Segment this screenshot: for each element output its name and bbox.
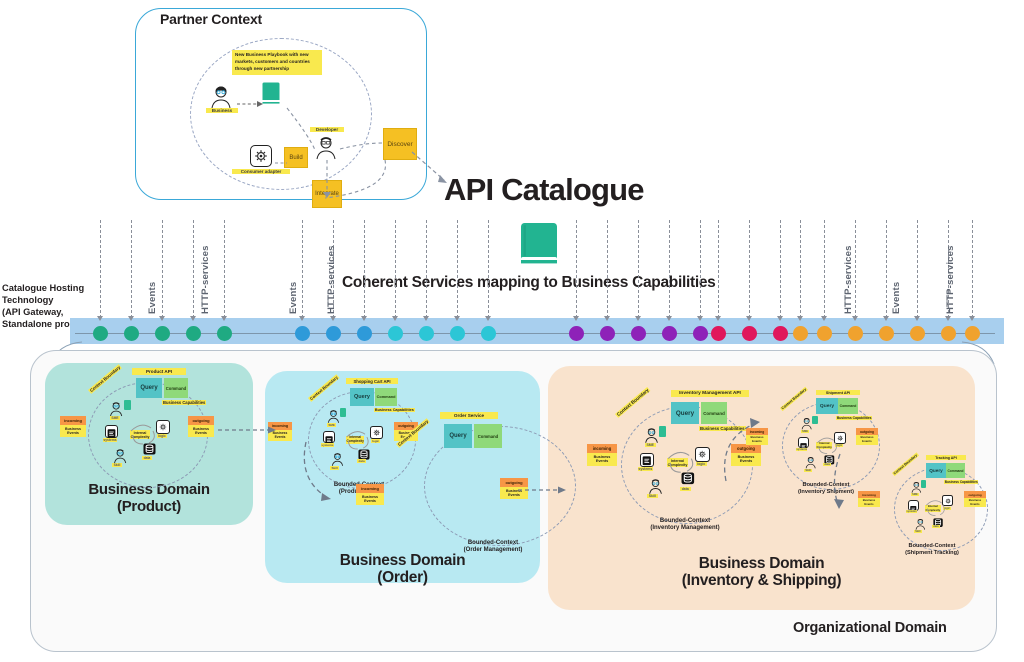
channel-arrow-icon — [159, 316, 165, 321]
command-box[interactable]: Command — [946, 463, 965, 478]
product-to-order-arrow — [218, 424, 280, 440]
channel-label: HTTP-services — [945, 228, 956, 314]
channel-arrow-icon — [485, 316, 491, 321]
internal-complexity-links — [343, 426, 371, 459]
channel-arrow-icon — [945, 316, 951, 321]
incoming-business-events: incoming Business Events — [356, 484, 384, 505]
channel-arrow-icon — [715, 316, 721, 321]
channel-dashed-line — [972, 220, 973, 318]
channel-arrow-icon — [635, 316, 641, 321]
service-dot[interactable] — [326, 326, 341, 341]
outgoing-business-events: outgoing Business Events — [856, 428, 878, 445]
data-label: data — [932, 525, 940, 528]
outgoing-label: outgoing — [856, 428, 878, 435]
channel-arrow-icon — [128, 316, 134, 321]
knowledge-book-icon — [659, 426, 666, 437]
channel-dashed-line — [131, 220, 132, 318]
channel-dashed-line — [426, 220, 427, 318]
channel-arrow-icon — [821, 316, 827, 321]
channel-dashed-line — [100, 220, 101, 318]
api-label: Tracking API — [926, 455, 966, 460]
partner-flow-connectors — [135, 8, 435, 208]
channel-arrow-icon — [883, 316, 889, 321]
channel-dashed-line — [302, 220, 303, 318]
channel-dashed-line — [749, 220, 750, 318]
channel-label: Events — [147, 228, 158, 314]
channel-arrow-icon — [969, 316, 975, 321]
channel-arrow-icon — [299, 316, 305, 321]
incoming-label: incoming — [858, 491, 880, 498]
service-dot[interactable] — [848, 326, 863, 341]
knowledge-book-icon — [124, 400, 131, 410]
service-dot[interactable] — [600, 326, 615, 341]
bounded-context-name: Bounded-Context (Shipment Tracking) — [882, 543, 982, 556]
incoming-business-events: incoming Business Events — [587, 444, 617, 466]
data-label: data — [142, 456, 152, 460]
service-dot[interactable] — [186, 326, 201, 341]
incoming-sub-label: Business Events — [587, 453, 617, 466]
channel-dashed-line — [700, 220, 701, 318]
incoming-sub-label: Business Events — [60, 425, 86, 437]
service-dot[interactable] — [295, 326, 310, 341]
systems-label: systems — [103, 438, 117, 442]
service-dot[interactable] — [879, 326, 894, 341]
query-box[interactable]: Query — [671, 402, 699, 424]
service-dot[interactable] — [742, 326, 757, 341]
sme-label: SME — [911, 493, 919, 496]
service-dot[interactable] — [693, 326, 708, 341]
bounded-context-name-line-2: (Inventory Management) — [625, 525, 745, 532]
api-label: Product API — [132, 368, 186, 375]
service-dot[interactable] — [793, 326, 808, 341]
channel-label: Events — [891, 228, 902, 314]
channel-arrow-icon — [797, 316, 803, 321]
outgoing-sub-label: Business Events — [856, 435, 878, 445]
incoming-label: incoming — [356, 484, 384, 493]
channel-label: Events — [288, 228, 299, 314]
service-dot[interactable] — [941, 326, 956, 341]
service-dot[interactable] — [357, 326, 372, 341]
channel-arrow-icon — [330, 316, 336, 321]
systems-label: systems — [906, 510, 917, 513]
business-domain-inventory-title: Business Domain (Inventory & Shipping) — [548, 555, 975, 590]
command-box[interactable]: Command — [838, 398, 858, 414]
bounded-context-name: Bounded-Context (Inventory Management) — [625, 518, 745, 532]
knowledge-book-icon — [812, 416, 818, 424]
query-box[interactable]: Query — [136, 378, 162, 398]
channel-arrow-icon — [190, 316, 196, 321]
logic-gear-icon — [156, 420, 170, 434]
channel-label: HTTP-services — [843, 228, 854, 314]
service-dot[interactable] — [388, 326, 403, 341]
channel-dashed-line — [669, 220, 670, 318]
channel-arrow-icon — [573, 316, 579, 321]
skill-label: Skill — [804, 469, 812, 472]
channel-label: HTTP-services — [326, 228, 337, 314]
systems-icon — [908, 500, 919, 511]
query-box[interactable]: Query — [444, 424, 472, 448]
data-label: data — [680, 487, 691, 491]
query-box[interactable]: Query — [350, 388, 374, 406]
logic-gear-icon — [370, 426, 383, 439]
channel-arrow-icon — [746, 316, 752, 321]
logic-gear-icon — [695, 447, 710, 462]
incoming-label: incoming — [587, 444, 617, 453]
api-label: Order Service — [440, 412, 498, 419]
domain-title-line-2: (Product) — [45, 499, 253, 516]
business-capabilities-label: Business Capabilities — [162, 400, 206, 405]
channel-dashed-line — [638, 220, 639, 318]
logic-label: logic — [371, 439, 380, 443]
sme-label: SME — [327, 423, 336, 427]
business-domain-order-title: Business Domain (Order) — [265, 552, 540, 587]
channel-arrow-icon — [361, 316, 367, 321]
business-capabilities-label: Business Capabilities — [944, 480, 978, 484]
service-dot[interactable] — [450, 326, 465, 341]
outgoing-label: outgoing — [964, 491, 986, 498]
bounded-context-name: Bounded-Context (Order Management) — [434, 540, 552, 554]
business-capabilities-label: Business Capabilities — [836, 416, 872, 420]
channel-dashed-line — [576, 220, 577, 318]
channel-arrow-icon — [914, 316, 920, 321]
channel-arrow-icon — [777, 316, 783, 321]
systems-label: systems — [638, 467, 653, 471]
channel-arrow-icon — [97, 316, 103, 321]
channel-dashed-line — [824, 220, 825, 318]
outgoing-sub-label: Business Events — [964, 498, 986, 507]
domain-title-line-1: Business Domain — [548, 555, 975, 572]
service-dot[interactable] — [481, 326, 496, 341]
sme-label: SME — [110, 416, 120, 420]
channel-dashed-line — [855, 220, 856, 318]
logic-label: logic — [157, 434, 167, 438]
service-dot[interactable] — [965, 326, 980, 341]
internal-complexity-links — [923, 496, 946, 524]
outgoing-business-events: outgoing Business Events — [188, 416, 214, 437]
channel-arrow-icon — [454, 316, 460, 321]
api-label: Inventory Management API — [671, 390, 749, 397]
incoming-business-events: incoming Business Events — [60, 416, 86, 437]
channel-arrow-icon — [392, 316, 398, 321]
outgoing-label: outgoing — [188, 416, 214, 425]
service-dot[interactable] — [569, 326, 584, 341]
channel-dashed-line — [162, 220, 163, 318]
incoming-sub-label: Business Events — [356, 493, 384, 505]
order-to-inventory-arrow — [518, 484, 570, 500]
outgoing-business-events: outgoing Business Events — [964, 491, 986, 507]
systems-icon — [105, 425, 118, 438]
service-dot[interactable] — [662, 326, 677, 341]
service-dot[interactable] — [711, 326, 726, 341]
channel-dashed-line — [193, 220, 194, 318]
incoming-business-events: incoming Business Events — [858, 491, 880, 507]
service-dot[interactable] — [93, 326, 108, 341]
service-dot[interactable] — [217, 326, 232, 341]
domain-title-line-2: (Inventory & Shipping) — [548, 572, 975, 589]
service-dot[interactable] — [124, 326, 139, 341]
systems-icon — [640, 453, 654, 467]
service-dot[interactable] — [631, 326, 646, 341]
catalogue-hosting-line-2: Technology — [2, 295, 102, 307]
command-box[interactable]: Command — [164, 378, 188, 398]
bounded-context-name-line-2: (Order Management) — [434, 547, 552, 554]
bounded-context-name-line-1: Bounded-Context — [625, 518, 745, 525]
channel-dashed-line — [607, 220, 608, 318]
query-box[interactable]: Query — [926, 463, 946, 478]
channel-arrow-icon — [666, 316, 672, 321]
api-label: Shopping Cart API — [346, 378, 398, 384]
systems-label: systems — [796, 448, 807, 451]
sme-label: SME — [801, 430, 809, 433]
channel-dashed-line — [917, 220, 918, 318]
channel-dashed-line — [395, 220, 396, 318]
channel-dashed-line — [457, 220, 458, 318]
channel-arrow-icon — [697, 316, 703, 321]
knowledge-book-icon — [340, 408, 346, 417]
channel-dashed-line — [364, 220, 365, 318]
channel-arrow-icon — [604, 316, 610, 321]
channel-dashed-line — [886, 220, 887, 318]
coherent-services-title: Coherent Services mapping to Business Ca… — [342, 274, 715, 292]
incoming-label: incoming — [60, 416, 86, 425]
query-box[interactable]: Query — [816, 398, 838, 414]
service-dot[interactable] — [817, 326, 832, 341]
domain-title-line-1: Business Domain — [265, 552, 540, 569]
cart-to-order-mgmt-arrow — [300, 440, 344, 508]
bounded-context-name-line-1: Bounded-Context — [882, 543, 982, 550]
channel-label: HTTP-services — [200, 228, 211, 314]
catalogue-hosting-line-3: (API Gateway, — [2, 307, 102, 319]
service-dot[interactable] — [910, 326, 925, 341]
service-dot[interactable] — [155, 326, 170, 341]
organizational-domain-label: Organizational Domain — [793, 620, 947, 636]
internal-complexity-links — [664, 446, 696, 483]
skill-label: Skill — [647, 494, 658, 498]
catalogue-hosting-bar — [70, 318, 1004, 344]
catalogue-hosting-line-1: Catalogue Hosting — [2, 283, 102, 295]
green-book-icon — [520, 222, 558, 268]
knowledge-book-icon — [921, 480, 926, 488]
channel-arrow-icon — [221, 316, 227, 321]
channel-dashed-line — [488, 220, 489, 318]
business-capabilities-label: Business Capabilities — [374, 408, 415, 412]
service-dot[interactable] — [773, 326, 788, 341]
api-catalogue-title: API Catalogue — [444, 172, 644, 208]
command-box[interactable]: Command — [474, 424, 502, 448]
inventory-to-shipment-arrow — [722, 415, 778, 485]
shipment-to-tracking-arrow — [824, 452, 854, 514]
sme-label: SME — [645, 443, 656, 447]
command-box[interactable]: Command — [375, 388, 397, 406]
outgoing-sub-label: Business Events — [188, 425, 214, 437]
service-dot[interactable] — [419, 326, 434, 341]
channel-dashed-line — [800, 220, 801, 318]
data-label: data — [357, 459, 366, 463]
channel-dashed-line — [224, 220, 225, 318]
bounded-context-name-line-2: (Shipment Tracking) — [882, 550, 982, 557]
skill-label: Skill — [914, 530, 922, 533]
channel-dashed-line — [718, 220, 719, 318]
systems-icon — [798, 437, 809, 448]
incoming-sub-label: Business Events — [858, 498, 880, 507]
channel-arrow-icon — [423, 316, 429, 321]
api-label: Shipment API — [816, 390, 860, 395]
bounded-context-name-line-1: Bounded-Context — [434, 540, 552, 547]
channel-arrow-icon — [852, 316, 858, 321]
domain-title-line-2: (Order) — [265, 569, 540, 586]
channel-dashed-line — [780, 220, 781, 318]
internal-complexity-links — [127, 419, 157, 454]
logic-label: logic — [696, 462, 707, 466]
skill-label: Skill — [112, 463, 122, 467]
